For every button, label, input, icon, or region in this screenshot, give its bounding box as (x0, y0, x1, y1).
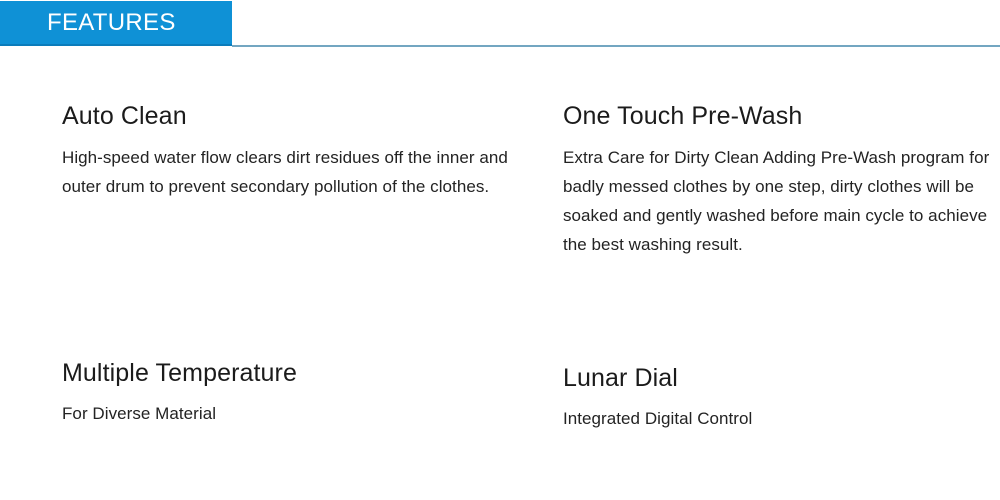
features-tab[interactable]: FEATURES (0, 1, 232, 46)
features-tab-label: FEATURES (47, 8, 176, 38)
section-header: FEATURES (0, 0, 1000, 48)
feature-item-lunar-dial: Lunar Dial Integrated Digital Control (563, 363, 993, 431)
feature-item-one-touch-pre-wash: One Touch Pre-Wash Extra Care for Dirty … (563, 101, 993, 259)
feature-description: Extra Care for Dirty Clean Adding Pre-Wa… (563, 143, 993, 259)
features-page: FEATURES Auto Clean High-speed water flo… (0, 0, 1000, 500)
feature-description: Integrated Digital Control (563, 407, 993, 431)
feature-title: One Touch Pre-Wash (563, 101, 993, 131)
feature-description: For Diverse Material (62, 402, 522, 426)
feature-description: High-speed water flow clears dirt residu… (62, 143, 522, 201)
header-divider (232, 45, 1000, 47)
feature-item-auto-clean: Auto Clean High-speed water flow clears … (62, 101, 522, 201)
feature-title: Auto Clean (62, 101, 522, 131)
feature-title: Multiple Temperature (62, 358, 522, 388)
feature-title: Lunar Dial (563, 363, 993, 393)
feature-item-multiple-temperature: Multiple Temperature For Diverse Materia… (62, 358, 522, 426)
